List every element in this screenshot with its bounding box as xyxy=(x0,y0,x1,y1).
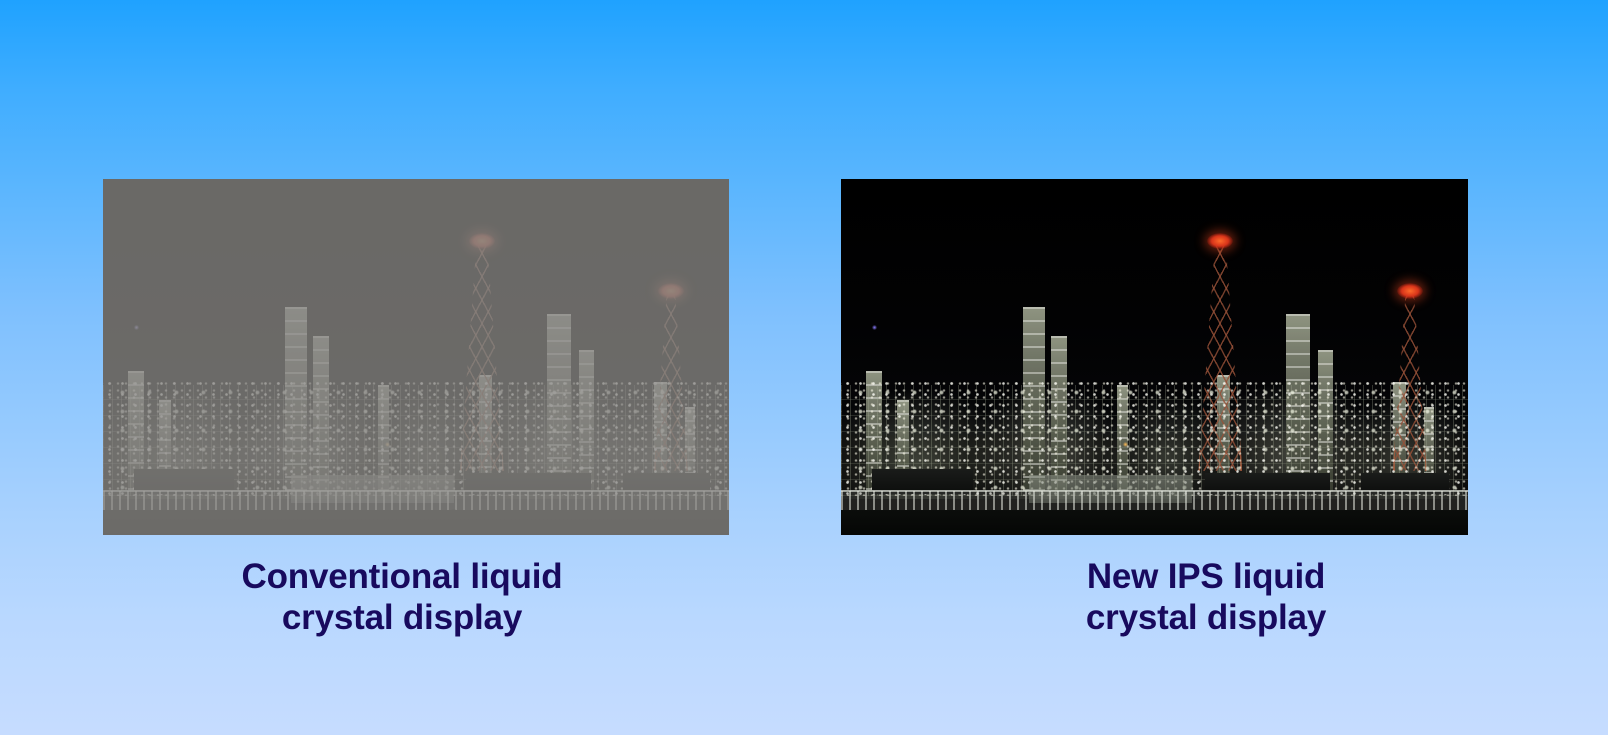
caption-line-2: crystal display xyxy=(804,597,1608,638)
caption-line-1: New IPS liquid xyxy=(804,556,1608,597)
tower-beacon-light xyxy=(469,233,495,249)
foreground-ground xyxy=(841,510,1468,535)
refinery-night-photo xyxy=(841,179,1468,535)
tower-beacon-light xyxy=(658,283,684,299)
comparison-slide: Conventional liquid crystal display xyxy=(0,0,1608,735)
display-preview-conventional xyxy=(103,179,729,535)
caption-new-ips: New IPS liquid crystal display xyxy=(804,556,1608,638)
caption-line-1: Conventional liquid xyxy=(0,556,804,597)
caption-conventional: Conventional liquid crystal display xyxy=(0,556,804,638)
panel-conventional: Conventional liquid crystal display xyxy=(0,0,804,735)
panel-new-ips: New IPS liquid crystal display xyxy=(804,0,1608,735)
refinery-night-photo xyxy=(103,179,729,535)
foreground-ground xyxy=(103,510,729,535)
tower-beacon-light xyxy=(1207,233,1233,249)
tower-beacon-light xyxy=(1397,283,1423,299)
display-preview-ips xyxy=(841,179,1468,535)
caption-line-2: crystal display xyxy=(0,597,804,638)
